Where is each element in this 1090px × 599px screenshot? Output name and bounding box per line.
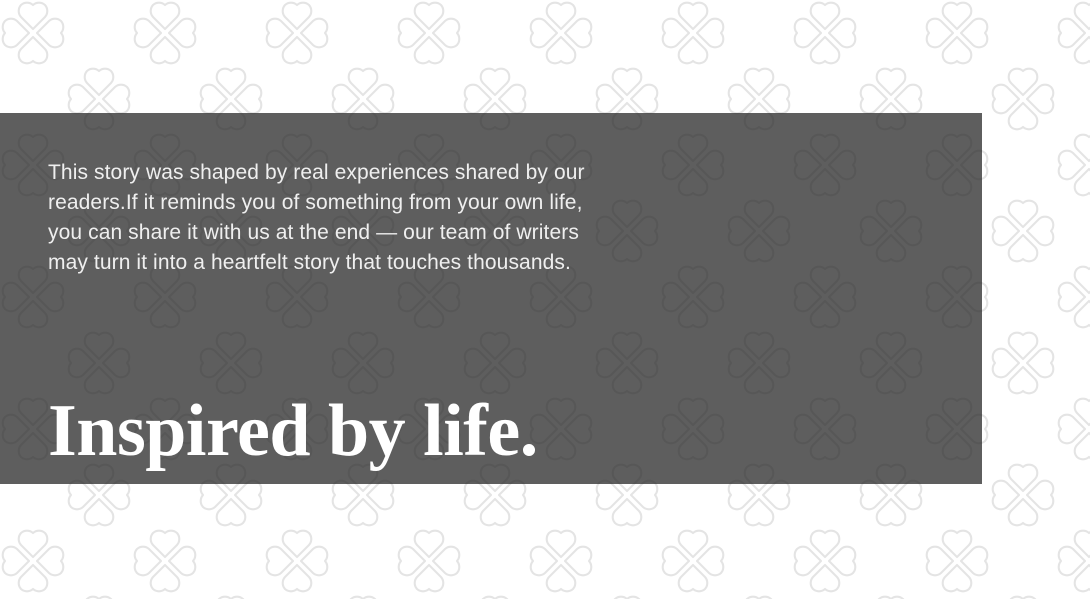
headline-line-1: Inspired by life. xyxy=(48,389,982,474)
page-title: Inspired by life. Written with care. xyxy=(48,304,982,484)
dark-overlay-panel: This story was shaped by real experience… xyxy=(0,113,982,484)
banner-stage: This story was shaped by real experience… xyxy=(0,0,1090,599)
intro-paragraph: This story was shaped by real experience… xyxy=(48,158,698,278)
panel-content: This story was shaped by real experience… xyxy=(48,158,982,484)
